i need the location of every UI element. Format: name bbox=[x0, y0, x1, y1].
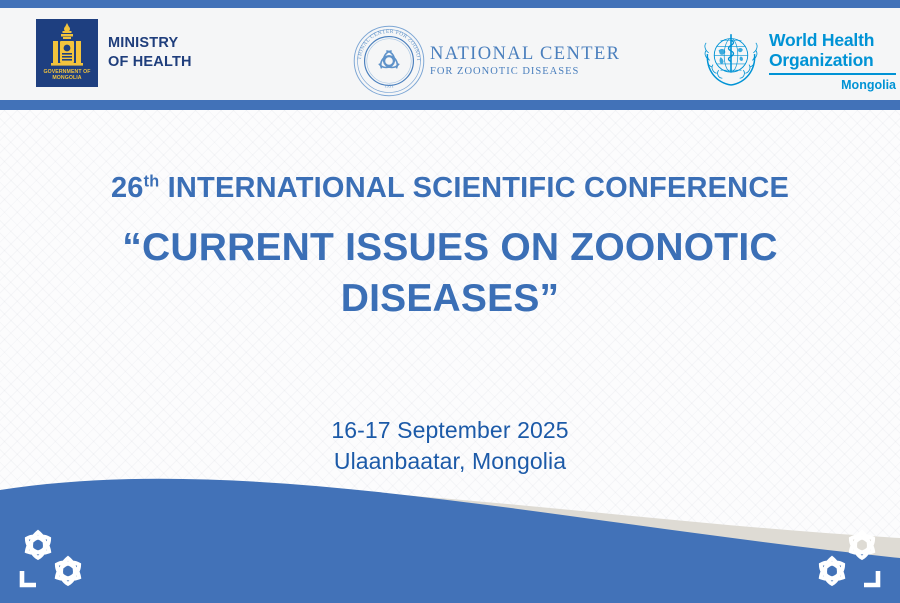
bottom-wave-decoration bbox=[0, 463, 900, 603]
who-name-line1: World Health bbox=[769, 31, 896, 51]
logo-row: GOVERNMENT OF MONGOLIA MINISTRY OF HEALT… bbox=[0, 8, 900, 100]
nczd-circular-seal-icon: NATIONAL CENTER FOR ZOONOTIC 1931 bbox=[352, 24, 426, 98]
national-center-zoonotic-diseases-logo: NATIONAL CENTER FOR ZOONOTIC 1931 bbox=[352, 24, 620, 98]
conference-ordinal-title: 26th INTERNATIONAL SCIENTIFIC CONFERENCE bbox=[0, 170, 900, 206]
triquetra-knot-icon bbox=[14, 523, 100, 595]
conference-theme-line2: DISEASES” bbox=[0, 273, 900, 324]
header-divider-bar bbox=[0, 100, 900, 110]
who-country-label: Mongolia bbox=[769, 78, 896, 92]
event-date: 16-17 September 2025 bbox=[0, 415, 900, 446]
conference-title-rest: INTERNATIONAL SCIENTIFIC CONFERENCE bbox=[159, 172, 789, 204]
top-accent-bar bbox=[0, 0, 900, 8]
who-wordmark: World Health Organization Mongolia bbox=[769, 28, 896, 92]
mongolia-state-emblem-crest: GOVERNMENT OF MONGOLIA bbox=[36, 19, 98, 87]
triquetra-knot-ornament-right bbox=[800, 523, 886, 595]
conference-theme-title: “CURRENT ISSUES ON ZOONOTIC DISEASES” bbox=[0, 222, 900, 324]
who-emblem-icon bbox=[700, 28, 762, 90]
crest-caption-line1: GOVERNMENT OF bbox=[43, 69, 90, 75]
conference-ordinal-suffix: th bbox=[144, 172, 160, 190]
wave-shape bbox=[0, 463, 900, 603]
who-divider-rule bbox=[769, 73, 896, 75]
triquetra-knot-ornament-left bbox=[14, 523, 100, 595]
conference-number: 26 bbox=[111, 172, 144, 204]
conference-theme-line1: “CURRENT ISSUES ON ZOONOTIC bbox=[0, 222, 900, 273]
title-block: 26th INTERNATIONAL SCIENTIFIC CONFERENCE… bbox=[0, 170, 900, 324]
triquetra-knot-icon bbox=[800, 523, 886, 595]
ministry-label-line2: OF HEALTH bbox=[108, 53, 192, 72]
nczd-wordmark: NATIONAL CENTER FOR ZOONOTIC DISEASES bbox=[430, 43, 620, 79]
crest-caption-line2: MONGOLIA bbox=[52, 75, 81, 81]
ministry-of-health-logo: GOVERNMENT OF MONGOLIA MINISTRY OF HEALT… bbox=[36, 19, 192, 87]
crest-caption: GOVERNMENT OF MONGOLIA bbox=[36, 69, 98, 82]
conference-title-slide: GOVERNMENT OF MONGOLIA MINISTRY OF HEALT… bbox=[0, 0, 900, 603]
nczd-name-line1: NATIONAL CENTER bbox=[430, 43, 620, 65]
ministry-label-line1: MINISTRY bbox=[108, 34, 192, 53]
svg-text:1931: 1931 bbox=[384, 83, 394, 88]
ministry-of-health-label: MINISTRY OF HEALTH bbox=[108, 34, 192, 72]
nczd-name-line2: FOR ZOONOTIC DISEASES bbox=[430, 65, 620, 79]
who-logo: World Health Organization Mongolia bbox=[700, 28, 896, 92]
who-name-line2: Organization bbox=[769, 51, 896, 71]
